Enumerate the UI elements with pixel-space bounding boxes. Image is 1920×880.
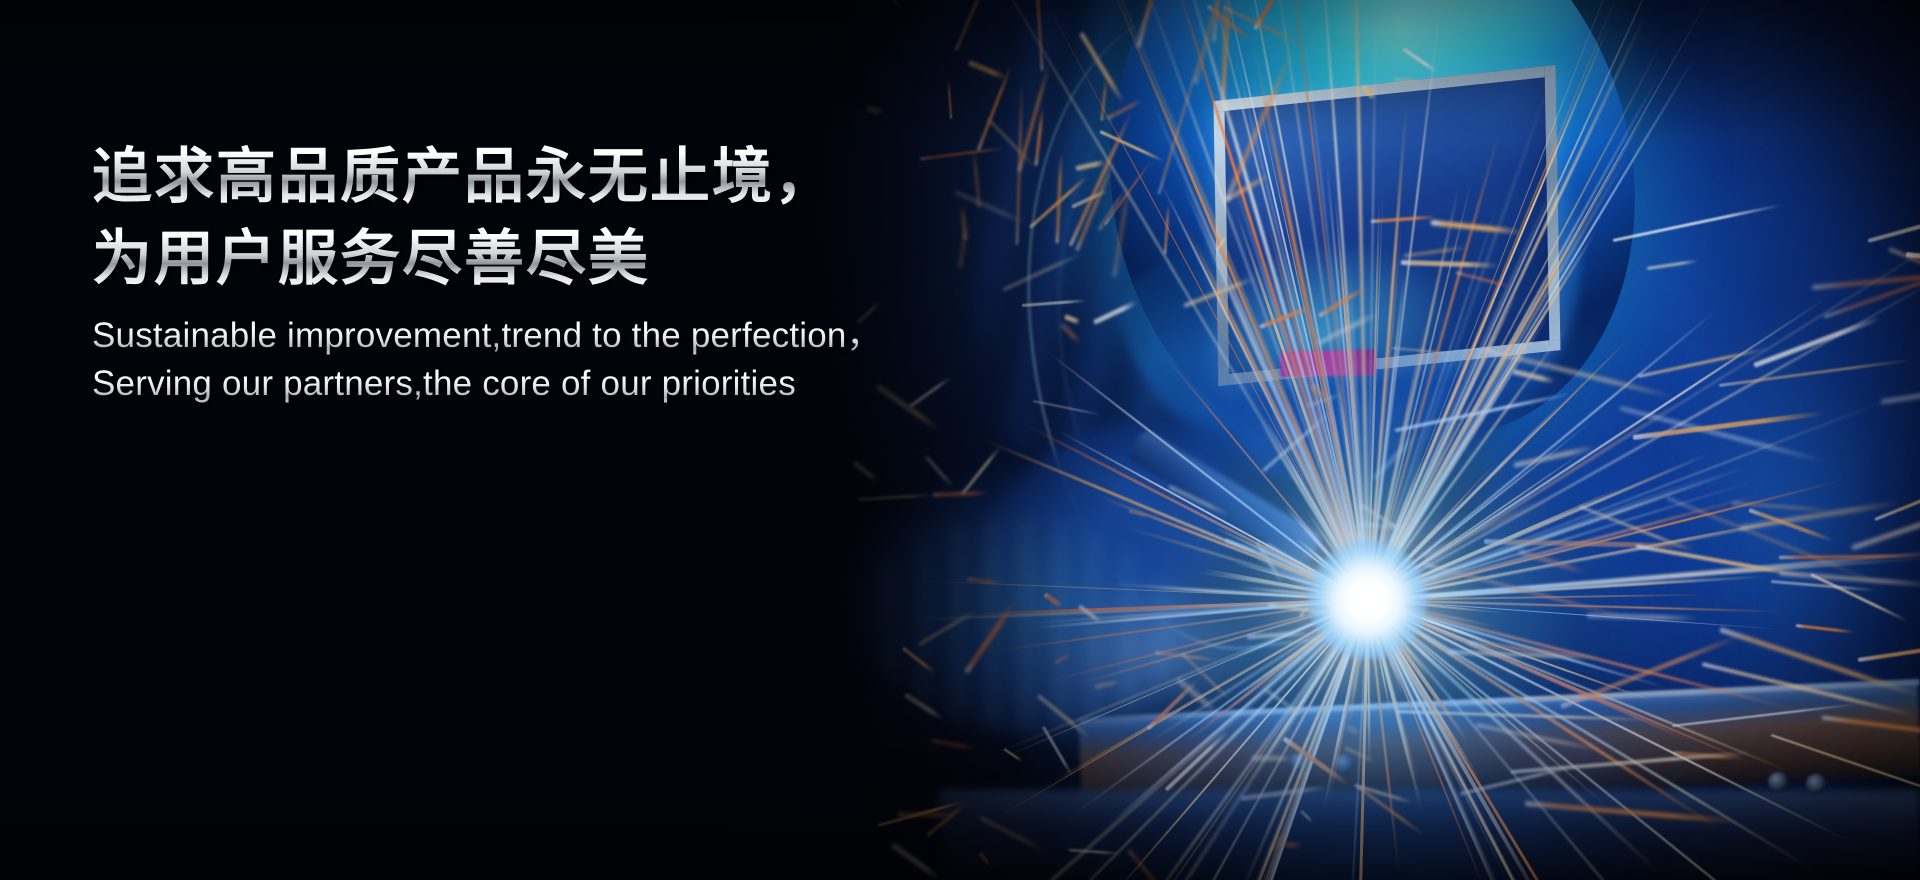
welding-photo xyxy=(0,0,1920,880)
subtitle-english-line-1: Sustainable improvement,trend to the per… xyxy=(92,312,882,360)
headline-chinese-line-1: 追求高品质产品永无止境， xyxy=(92,138,882,216)
hero-banner: 追求高品质产品永无止境， 为用户服务尽善尽美 Sustainable impro… xyxy=(0,0,1920,880)
subtitle-english: Sustainable improvement,trend to the per… xyxy=(92,312,882,408)
hero-copy: 追求高品质产品永无止境， 为用户服务尽善尽美 Sustainable impro… xyxy=(92,138,882,408)
arc-core xyxy=(1308,540,1428,660)
subtitle-english-line-2: Serving our partners,the core of our pri… xyxy=(92,360,882,408)
headline-chinese-line-2: 为用户服务尽善尽美 xyxy=(92,220,882,298)
